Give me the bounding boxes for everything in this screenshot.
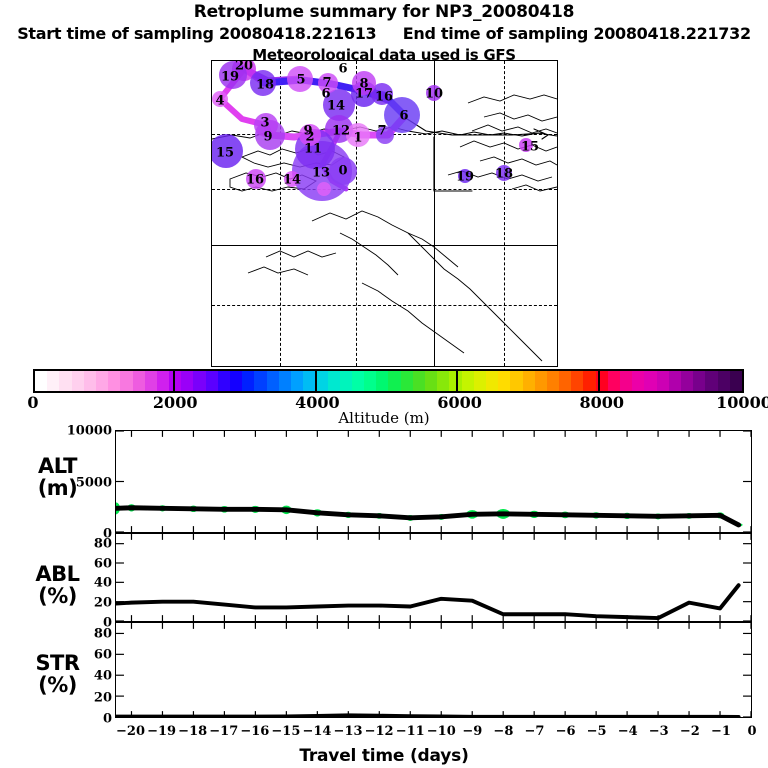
- colorbar-swatch: [401, 371, 413, 391]
- plume-marker-label: 7: [377, 125, 386, 138]
- colorbar-divider: [315, 369, 317, 393]
- colorbar-swatch: [364, 371, 376, 391]
- colorbar-swatch: [559, 371, 571, 391]
- page-title: Retroplume summary for NP3_20080418: [0, 2, 768, 22]
- str-ytick-labels: 020406080: [50, 622, 112, 720]
- colorbar-swatch: [84, 371, 96, 391]
- colorbar-swatch: [340, 371, 352, 391]
- colorbar-swatch: [547, 371, 559, 391]
- y-tick-label: 5000: [76, 475, 112, 490]
- x-tick-label: −4: [618, 724, 638, 739]
- data-line: [116, 715, 739, 717]
- x-tick-label: −12: [365, 724, 394, 739]
- colorbar-swatch: [681, 371, 693, 391]
- x-tick-label: −13: [334, 724, 363, 739]
- colorbar-swatch: [486, 371, 498, 391]
- colorbar-swatch: [279, 371, 291, 391]
- colorbar-axis-title: Altitude (m): [0, 409, 768, 427]
- y-tick-label: 40: [94, 576, 112, 591]
- colorbar-swatch: [498, 371, 510, 391]
- plume-marker-label: 9: [303, 125, 312, 138]
- x-tick-label: −11: [396, 724, 425, 739]
- x-tick-label: −7: [525, 724, 545, 739]
- xaxis-tick-labels: −20−19−18−17−16−15−14−13−12−11−10−9−8−7−…: [0, 724, 768, 744]
- plume-marker-label: 15: [521, 141, 539, 154]
- colorbar-swatch: [291, 371, 303, 391]
- colorbar-swatch: [425, 371, 437, 391]
- colorbar-divider: [456, 369, 458, 393]
- plume-marker-label: 6: [338, 63, 347, 76]
- x-tick-label: −3: [649, 724, 669, 739]
- colorbar-swatch: [523, 371, 535, 391]
- str-panel: [115, 622, 752, 718]
- colorbar-swatch: [254, 371, 266, 391]
- x-tick-label: −17: [209, 724, 238, 739]
- y-tick-label: 20: [94, 596, 112, 611]
- plume-marker-label: 4: [215, 95, 224, 108]
- plume-marker-label: 10: [425, 88, 443, 101]
- x-tick-label: −16: [240, 724, 269, 739]
- colorbar-swatch: [133, 371, 145, 391]
- colorbar-swatch: [72, 371, 84, 391]
- x-tick-label: −9: [462, 724, 482, 739]
- colorbar-swatch: [108, 371, 120, 391]
- plume-marker-label: 16: [246, 174, 264, 187]
- y-tick-label: 60: [94, 556, 112, 571]
- x-tick-label: −8: [493, 724, 513, 739]
- retroplume-summary-figure: Retroplume summary for NP3_20080418 Star…: [0, 0, 768, 768]
- data-line: [116, 585, 739, 618]
- y-tick-label: 40: [94, 669, 112, 684]
- plume-marker-label: 0: [338, 165, 347, 178]
- x-tick-label: −20: [116, 724, 145, 739]
- x-tick-label: −15: [271, 724, 300, 739]
- colorbar-swatch: [510, 371, 522, 391]
- y-tick-label: 80: [94, 626, 112, 641]
- colorbar-swatch: [718, 371, 730, 391]
- colorbar-swatch: [267, 371, 279, 391]
- y-tick-label: 80: [94, 536, 112, 551]
- alt-plot: [116, 431, 751, 532]
- y-tick-label: 10000: [67, 424, 112, 439]
- colorbar-gradient: [33, 369, 744, 393]
- colorbar-swatch: [181, 371, 193, 391]
- colorbar-swatch: [193, 371, 205, 391]
- colorbar-swatch: [669, 371, 681, 391]
- colorbar-swatch: [145, 371, 157, 391]
- plume-marker-label: 19: [456, 171, 474, 184]
- abl-ytick-labels: 020406080: [50, 533, 112, 625]
- plume-marker-label: 16: [375, 91, 393, 104]
- str-plot: [116, 623, 751, 717]
- plume-label-layer: 2019181716151413121110987654321141615181…: [212, 61, 557, 366]
- x-tick-label: −2: [680, 724, 700, 739]
- plume-marker-label: 8: [359, 78, 368, 91]
- colorbar-swatch: [303, 371, 315, 391]
- plume-marker-label: 14: [283, 174, 301, 187]
- plume-marker-label: 6: [399, 110, 408, 123]
- colorbar-swatch: [693, 371, 705, 391]
- map-inner: 2019181716151413121110987654321141615181…: [212, 61, 557, 366]
- y-tick-label: 60: [94, 648, 112, 663]
- colorbar-swatch: [315, 371, 327, 391]
- colorbar-swatch: [376, 371, 388, 391]
- colorbar-swatch: [230, 371, 242, 391]
- colorbar-swatch: [535, 371, 547, 391]
- colorbar-swatch: [169, 371, 181, 391]
- mean-line: [116, 508, 739, 525]
- colorbar-swatch: [730, 371, 742, 391]
- sampling-times-line: Start time of sampling 20080418.221613 E…: [0, 24, 768, 43]
- x-tick-label: 0: [747, 724, 756, 739]
- x-tick-label: −1: [711, 724, 731, 739]
- colorbar-swatch: [632, 371, 644, 391]
- retroplume-map: 2019181716151413121110987654321141615181…: [211, 60, 558, 367]
- xaxis-title: Travel time (days): [0, 746, 768, 766]
- x-tick-label: −19: [147, 724, 176, 739]
- colorbar-swatch: [59, 371, 71, 391]
- plume-marker-label: 18: [495, 168, 513, 181]
- plume-marker-label: 1: [353, 132, 362, 145]
- alt-panel: [115, 430, 752, 533]
- colorbar-swatch: [120, 371, 132, 391]
- plume-marker-label: 12: [332, 125, 350, 138]
- colorbar-swatch: [583, 371, 595, 391]
- colorbar-swatch: [644, 371, 656, 391]
- plume-marker-label: 18: [256, 79, 274, 92]
- colorbar-divider: [598, 369, 600, 393]
- abl-plot: [116, 534, 751, 621]
- colorbar-swatch: [328, 371, 340, 391]
- x-tick-label: −10: [427, 724, 456, 739]
- colorbar-swatch: [96, 371, 108, 391]
- alt-ytick-labels: 0500010000: [50, 420, 112, 545]
- colorbar-swatch: [157, 371, 169, 391]
- colorbar-divider: [173, 369, 175, 393]
- colorbar-swatch: [462, 371, 474, 391]
- colorbar-swatch: [620, 371, 632, 391]
- plume-marker-label: 19: [221, 71, 239, 84]
- colorbar-swatch: [35, 371, 47, 391]
- x-tick-label: −14: [302, 724, 331, 739]
- x-tick-label: −5: [587, 724, 607, 739]
- colorbar-swatch: [657, 371, 669, 391]
- plume-marker-label: 15: [216, 147, 234, 160]
- plume-marker-label: 3: [260, 117, 269, 130]
- y-tick-label: 20: [94, 690, 112, 705]
- x-tick-label: −18: [178, 724, 207, 739]
- plume-marker-label: 9: [263, 131, 272, 144]
- colorbar-swatch: [352, 371, 364, 391]
- colorbar-swatch: [474, 371, 486, 391]
- colorbar-swatch: [437, 371, 449, 391]
- colorbar-swatch: [206, 371, 218, 391]
- colorbar-swatch: [608, 371, 620, 391]
- x-tick-label: −6: [556, 724, 576, 739]
- plume-marker-label: 13: [312, 167, 330, 180]
- colorbar-swatch: [571, 371, 583, 391]
- abl-panel: [115, 533, 752, 622]
- colorbar-swatch: [705, 371, 717, 391]
- colorbar-swatch: [218, 371, 230, 391]
- colorbar-swatch: [413, 371, 425, 391]
- plume-marker-label: 5: [296, 74, 305, 87]
- colorbar-swatch: [47, 371, 59, 391]
- altitude-colorbar: [33, 369, 744, 393]
- plume-marker-label: 6: [321, 88, 330, 101]
- colorbar-swatch: [242, 371, 254, 391]
- colorbar-swatch: [388, 371, 400, 391]
